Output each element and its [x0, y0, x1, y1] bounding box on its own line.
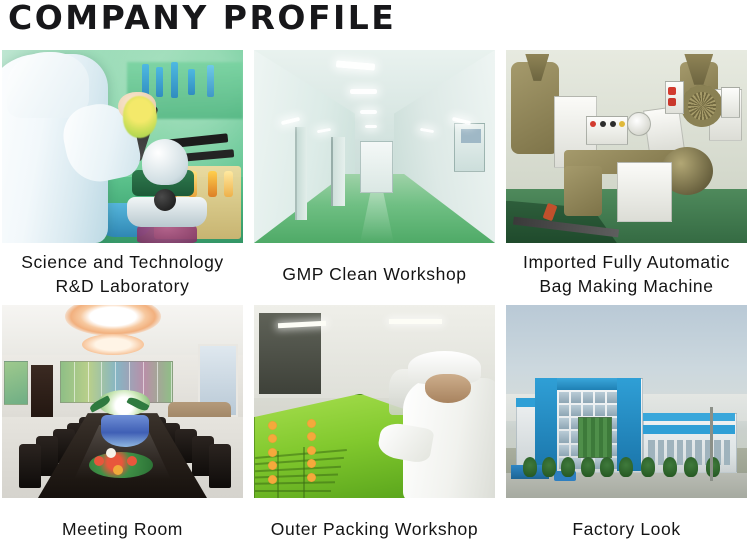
box-logo	[307, 473, 316, 482]
researcher-hood	[7, 52, 89, 118]
control-button	[668, 98, 676, 106]
caption-line: Bag Making Machine	[539, 276, 713, 296]
lab-photo	[2, 50, 243, 243]
gallery-item-meeting-room: Meeting Room	[2, 305, 243, 560]
flower-vase	[101, 415, 149, 447]
corridor-side-door	[331, 137, 345, 206]
control-button	[668, 87, 676, 95]
tree	[523, 457, 537, 477]
factory-look-photo	[506, 305, 747, 498]
ceiling-light-cove	[82, 334, 145, 355]
machine-gear	[681, 85, 723, 127]
caption-line: Outer Packing Workshop	[271, 518, 478, 541]
corridor-wall-panel-inset	[461, 129, 480, 143]
lab-vial	[207, 65, 214, 97]
caption-line: Science and Technology	[21, 252, 224, 272]
lab-vial	[156, 67, 163, 97]
ceiling-light	[350, 89, 377, 94]
tree	[600, 457, 614, 477]
lab-vial	[171, 62, 178, 98]
caption-lab: Science and Technology R&D Laboratory	[2, 243, 243, 305]
tree	[581, 457, 595, 477]
tree	[619, 457, 633, 477]
caption-clean-workshop: GMP Clean Workshop	[254, 243, 495, 305]
microscope-body	[142, 139, 188, 185]
corridor-end-door	[360, 141, 393, 193]
box-edge	[255, 474, 338, 479]
control-panel	[586, 116, 629, 145]
secondary-building-roof	[643, 413, 735, 421]
ceiling-light	[365, 125, 377, 128]
caption-line: R&D Laboratory	[56, 276, 190, 296]
company-profile-page: COMPANY PROFILE	[0, 0, 750, 525]
building-green-panel	[578, 417, 611, 458]
box-logo	[307, 446, 316, 455]
caption-factory-look: Factory Look	[506, 498, 747, 560]
page-title: COMPANY PROFILE	[8, 0, 396, 38]
chair	[19, 444, 41, 488]
caption-line: Imported Fully Automatic	[523, 252, 730, 272]
caption-outer-packing: Outer Packing Workshop	[254, 498, 495, 560]
centerpiece-flower	[127, 456, 137, 466]
box-edge	[303, 447, 305, 498]
tree	[561, 457, 575, 477]
caption-line: Factory Look	[572, 518, 680, 541]
ceiling-light	[389, 319, 442, 324]
centerpiece-flower	[113, 465, 123, 475]
utility-pole	[710, 407, 713, 480]
centerpiece-flower	[94, 456, 104, 466]
box-edge	[255, 490, 331, 492]
bag-machine-photo	[506, 50, 747, 243]
corridor-side-door	[295, 127, 307, 220]
meeting-room-door	[31, 365, 53, 417]
gallery-item-clean-workshop: GMP Clean Workshop	[254, 50, 495, 305]
caption-line: GMP Clean Workshop	[282, 263, 466, 286]
outer-packing-photo	[254, 305, 495, 498]
caption-meeting-room: Meeting Room	[2, 498, 243, 560]
control-panel	[721, 87, 740, 118]
machine-panel	[617, 162, 672, 222]
centerpiece-flower	[106, 448, 116, 458]
lab-vial	[188, 69, 195, 95]
tree	[542, 457, 556, 477]
ceiling-light	[360, 110, 377, 114]
material-roll	[627, 112, 651, 136]
secondary-building-stripe	[643, 425, 735, 435]
gallery-item-bag-machine: Imported Fully Automatic Bag Making Mach…	[506, 50, 747, 305]
tree	[684, 457, 698, 477]
microscope-knob	[154, 189, 176, 211]
gallery-item-factory-look: Factory Look	[506, 305, 747, 560]
caption-bag-machine: Imported Fully Automatic Bag Making Mach…	[506, 243, 747, 305]
machine-frame	[564, 166, 603, 216]
gallery-item-lab: Science and Technology R&D Laboratory	[2, 50, 243, 305]
lab-test-tube	[224, 171, 233, 197]
photo-gallery-grid: Science and Technology R&D Laboratory	[2, 50, 748, 560]
box-edge	[255, 482, 335, 485]
plant-sample	[123, 96, 157, 138]
gallery-item-outer-packing: Outer Packing Workshop	[254, 305, 495, 560]
tree	[663, 457, 677, 477]
meeting-room-photo	[2, 305, 243, 498]
wall-art-panel-left	[4, 361, 28, 405]
tree	[641, 457, 655, 477]
box-logo	[307, 419, 316, 428]
box-edge	[277, 451, 279, 498]
lab-test-tube	[208, 171, 217, 197]
chair	[209, 444, 231, 488]
caption-line: Meeting Room	[62, 518, 183, 541]
clean-workshop-photo	[254, 50, 495, 243]
